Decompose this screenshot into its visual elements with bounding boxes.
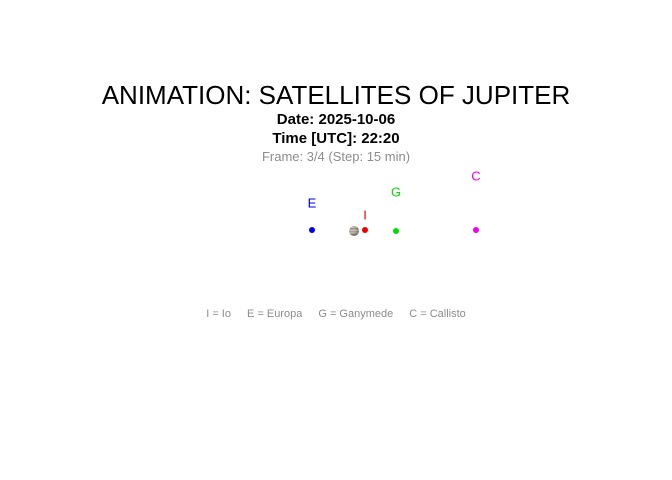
animation-canvas: ANIMATION: SATELLITES OF JUPITER Date: 2… (0, 0, 672, 480)
moon-dot-callisto (473, 227, 479, 233)
moon-dot-io (362, 227, 368, 233)
legend-entry: G = Ganymede (318, 307, 393, 321)
sky-plot-area: EIGC (0, 0, 672, 480)
moon-label-europa: E (308, 197, 317, 210)
legend-entry: I = Io (206, 307, 231, 321)
moon-label-callisto: C (471, 170, 480, 183)
moon-dot-europa (309, 227, 315, 233)
legend: I = IoE = EuropaG = GanymedeC = Callisto (0, 307, 672, 321)
moon-dot-ganymede (393, 228, 399, 234)
legend-entry: E = Europa (247, 307, 302, 321)
jupiter-disk (349, 226, 359, 236)
moon-label-io: I (363, 209, 367, 222)
moon-label-ganymede: G (391, 186, 401, 199)
legend-entry: C = Callisto (409, 307, 466, 321)
